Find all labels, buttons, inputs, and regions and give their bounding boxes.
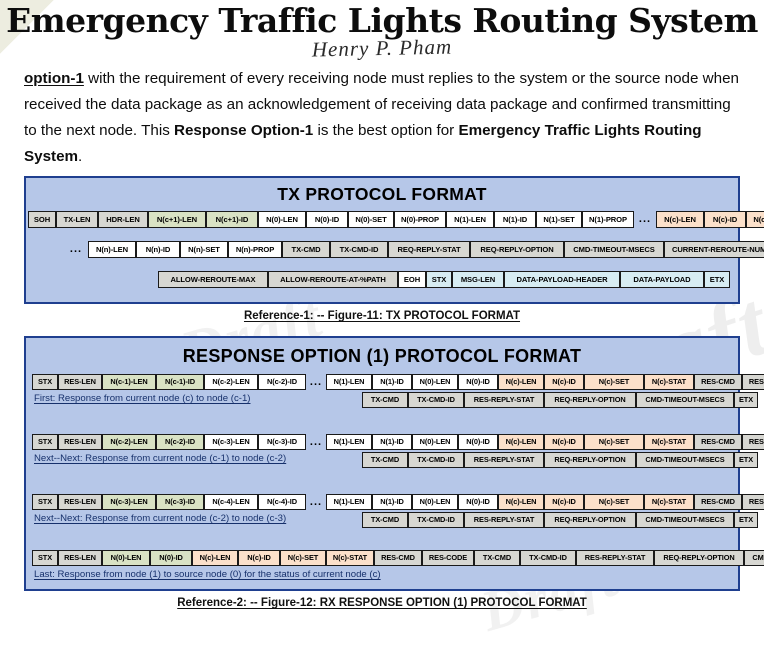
protocol-field-cell: N(0)-ID (458, 494, 498, 510)
protocol-field-cell: TX-CMD (362, 392, 408, 408)
rx-field-row-bottom: TX-CMDTX-CMD-IDRES-REPLY-STATREQ-REPLY-O… (362, 452, 758, 468)
protocol-field-cell: N(c-2)-ID (258, 374, 306, 390)
protocol-field-cell: N(1)-LEN (326, 374, 372, 390)
protocol-field-cell: N(1)-SET (536, 211, 582, 228)
protocol-field-cell: N(c)-ID (544, 494, 584, 510)
protocol-field-cell: RES-LEN (58, 550, 102, 566)
protocol-field-cell: CMD-TIMEOUT-MSECS (564, 241, 664, 258)
protocol-field-cell: DATA-PAYLOAD (620, 271, 704, 288)
protocol-field-cell: REQ-REPLY-OPTION (470, 241, 564, 258)
protocol-field-cell: N(c)-SET (746, 211, 764, 228)
protocol-field-cell: N(c)-LEN (498, 374, 544, 390)
protocol-field-cell: RES-LEN (58, 374, 102, 390)
field-ellipsis: ... (306, 494, 326, 510)
protocol-field-cell: N(1)-ID (372, 374, 412, 390)
protocol-field-cell: CMD-TIMEOUT-MSECS (636, 452, 734, 468)
protocol-field-cell: TX-CMD-ID (520, 550, 576, 566)
protocol-field-cell: N(1)-LEN (326, 434, 372, 450)
tx-caption-text: Reference-1: -- Figure-11: TX PROTOCOL F… (244, 310, 520, 322)
protocol-field-cell: RES-CMD (694, 494, 742, 510)
protocol-field-cell: RES-CODE (742, 434, 764, 450)
protocol-field-cell: N(0)-ID (458, 434, 498, 450)
protocol-field-cell: N(n)-LEN (88, 241, 136, 258)
protocol-field-cell: N(c-2)-LEN (102, 434, 156, 450)
protocol-field-cell: N(1)-ID (372, 494, 412, 510)
tx-field-row-2: ...N(n)-LENN(n)-IDN(n)-SETN(n)-PROPTX-CM… (64, 241, 764, 258)
paragraph-bold-1: Response Option-1 (174, 122, 313, 139)
protocol-field-cell: N(0)-LEN (412, 434, 458, 450)
protocol-field-cell: N(1)-LEN (326, 494, 372, 510)
protocol-field-cell: N(c)-STAT (644, 434, 694, 450)
protocol-field-cell: N(1)-LEN (446, 211, 494, 228)
protocol-field-cell: N(0)-LEN (102, 550, 150, 566)
protocol-field-cell: N(0)-LEN (412, 374, 458, 390)
rx-field-row-bottom: TX-CMDTX-CMD-IDRES-REPLY-STATREQ-REPLY-O… (362, 392, 758, 408)
protocol-field-cell: N(c)-SET (280, 550, 326, 566)
protocol-field-cell: N(c-2)-ID (156, 434, 204, 450)
protocol-field-cell: REQ-REPLY-OPTION (544, 452, 636, 468)
protocol-field-cell: CMD-TIMEOUT-MSECS (636, 392, 734, 408)
protocol-field-cell: N(0)-ID (150, 550, 192, 566)
protocol-field-cell: N(c-4)-ID (258, 494, 306, 510)
rx-block-label: Last: Response from node (1) to source n… (34, 569, 381, 580)
rx-block-label: First: Response from current node (c) to… (34, 393, 250, 404)
paragraph-text-3: . (78, 148, 82, 165)
protocol-field-cell: N(c-4)-LEN (204, 494, 258, 510)
protocol-field-cell: N(c)-STAT (644, 494, 694, 510)
protocol-field-cell: SOH (28, 211, 56, 228)
protocol-field-cell: REQ-REPLY-OPTION (544, 392, 636, 408)
protocol-field-cell: N(c-2)-LEN (204, 374, 258, 390)
protocol-field-cell: EOH (398, 271, 426, 288)
protocol-field-cell: RES-REPLY-STAT (576, 550, 654, 566)
protocol-field-cell: N(0)-LEN (258, 211, 306, 228)
field-ellipsis: ... (634, 211, 656, 228)
protocol-field-cell: TX-CMD-ID (330, 241, 388, 258)
protocol-field-cell: N(1)-ID (372, 434, 412, 450)
protocol-field-cell: N(c-3)-LEN (102, 494, 156, 510)
paragraph-lead-term: option-1 (24, 70, 84, 87)
protocol-field-cell: ALLOW-REROUTE-AT-%PATH (268, 271, 398, 288)
field-ellipsis: ... (306, 374, 326, 390)
rx-figure-caption: Reference-2: -- Figure-12: RX RESPONSE O… (0, 597, 764, 609)
protocol-field-cell: N(c+1)-LEN (148, 211, 206, 228)
protocol-field-cell: N(c+1)-ID (206, 211, 258, 228)
protocol-field-cell: ETX (734, 452, 758, 468)
rx-block-label: Next--Next: Response from current node (… (34, 453, 286, 464)
protocol-field-cell: RES-CODE (422, 550, 474, 566)
rx-field-row-top: STXRES-LENN(c-1)-LENN(c-1)-IDN(c-2)-LENN… (32, 374, 764, 390)
paragraph-text-2: is the best option for (313, 122, 458, 139)
protocol-field-cell: N(c)-ID (544, 434, 584, 450)
protocol-field-cell: TX-CMD-ID (408, 452, 464, 468)
protocol-field-cell: N(n)-PROP (228, 241, 282, 258)
protocol-field-cell: TX-CMD (474, 550, 520, 566)
protocol-field-cell: N(c)-ID (238, 550, 280, 566)
rx-caption-text: Reference-2: -- Figure-12: RX RESPONSE O… (177, 597, 587, 609)
protocol-field-cell: REQ-REPLY-OPTION (654, 550, 744, 566)
protocol-field-cell: RES-LEN (58, 494, 102, 510)
protocol-field-cell: N(1)-ID (494, 211, 536, 228)
protocol-field-cell: N(c-3)-ID (258, 434, 306, 450)
protocol-field-cell: N(1)-PROP (582, 211, 634, 228)
protocol-field-cell: N(0)-PROP (394, 211, 446, 228)
rx-figure-title: RESPONSE OPTION (1) PROTOCOL FORMAT (26, 338, 738, 367)
protocol-field-cell: CMD-TIMEOUT-MSECS (636, 512, 734, 528)
protocol-field-cell: N(0)-SET (348, 211, 394, 228)
protocol-field-cell: STX (32, 374, 58, 390)
protocol-field-cell: RES-REPLY-STAT (464, 512, 544, 528)
protocol-field-cell: REQ-REPLY-STAT (388, 241, 470, 258)
protocol-field-cell: RES-LEN (58, 434, 102, 450)
body-paragraph: option-1 with the requirement of every r… (24, 66, 740, 170)
protocol-field-cell: TX-LEN (56, 211, 98, 228)
rx-field-row-top: STXRES-LENN(c-2)-LENN(c-2)-IDN(c-3)-LENN… (32, 434, 764, 450)
tx-figure-caption: Reference-1: -- Figure-11: TX PROTOCOL F… (0, 310, 764, 322)
rx-protocol-figure: RESPONSE OPTION (1) PROTOCOL FORMAT STXR… (24, 336, 740, 591)
protocol-field-cell: CURRENT-REROUTE-NUMBER (664, 241, 764, 258)
protocol-field-cell: N(c)-SET (584, 434, 644, 450)
protocol-field-cell: TX-CMD (362, 452, 408, 468)
protocol-field-cell: N(c-3)-ID (156, 494, 204, 510)
rx-field-row-top: STXRES-LENN(c-3)-LENN(c-3)-IDN(c-4)-LENN… (32, 494, 764, 510)
protocol-field-cell: TX-CMD (362, 512, 408, 528)
protocol-field-cell: DATA-PAYLOAD-HEADER (504, 271, 620, 288)
protocol-field-cell: STX (32, 494, 58, 510)
protocol-field-cell: N(c-3)-LEN (204, 434, 258, 450)
protocol-field-cell: RES-CODE (742, 374, 764, 390)
protocol-field-cell: N(c)-LEN (656, 211, 704, 228)
protocol-field-cell: STX (426, 271, 452, 288)
protocol-field-cell: N(c)-LEN (192, 550, 238, 566)
protocol-field-cell: RES-REPLY-STAT (464, 452, 544, 468)
protocol-field-cell: RES-CMD (694, 374, 742, 390)
rx-field-row-bottom: TX-CMDTX-CMD-IDRES-REPLY-STATREQ-REPLY-O… (362, 512, 758, 528)
protocol-field-cell: N(n)-ID (136, 241, 180, 258)
protocol-field-cell: N(n)-SET (180, 241, 228, 258)
protocol-field-cell: N(c)-LEN (498, 494, 544, 510)
protocol-field-cell: STX (32, 434, 58, 450)
protocol-field-cell: N(c-1)-ID (156, 374, 204, 390)
rx-block-label: Next--Next: Response from current node (… (34, 513, 286, 524)
protocol-field-cell: RES-REPLY-STAT (464, 392, 544, 408)
protocol-field-cell: N(c)-ID (544, 374, 584, 390)
protocol-field-cell: STX (32, 550, 58, 566)
protocol-field-cell: REQ-REPLY-OPTION (544, 512, 636, 528)
protocol-field-cell: N(c-1)-LEN (102, 374, 156, 390)
protocol-field-cell: N(c)-STAT (326, 550, 374, 566)
protocol-field-cell: RES-CMD (694, 434, 742, 450)
field-ellipsis: ... (64, 241, 88, 258)
protocol-field-cell: RES-CMD (374, 550, 422, 566)
tx-field-row-1: SOHTX-LENHDR-LENN(c+1)-LENN(c+1)-IDN(0)-… (28, 211, 764, 228)
protocol-field-cell: N(c)-ID (704, 211, 746, 228)
protocol-field-cell: TX-CMD (282, 241, 330, 258)
protocol-field-cell: N(c)-LEN (498, 434, 544, 450)
protocol-field-cell: CMD-TIMEOUT-MSECS (744, 550, 764, 566)
protocol-field-cell: ETX (734, 392, 758, 408)
protocol-field-cell: ETX (734, 512, 758, 528)
protocol-field-cell: ETX (704, 271, 730, 288)
tx-figure-title: TX PROTOCOL FORMAT (26, 178, 738, 205)
protocol-field-cell: MSG-LEN (452, 271, 504, 288)
rx-field-row-top: STXRES-LENN(0)-LENN(0)-IDN(c)-LENN(c)-ID… (32, 550, 764, 566)
protocol-field-cell: N(0)-LEN (412, 494, 458, 510)
protocol-field-cell: N(c)-STAT (644, 374, 694, 390)
protocol-field-cell: TX-CMD-ID (408, 392, 464, 408)
protocol-field-cell: ALLOW-REROUTE-MAX (158, 271, 268, 288)
protocol-field-cell: N(0)-ID (306, 211, 348, 228)
field-ellipsis: ... (306, 434, 326, 450)
protocol-field-cell: N(c)-SET (584, 374, 644, 390)
tx-field-row-3: ALLOW-REROUTE-MAXALLOW-REROUTE-AT-%PATHE… (158, 271, 730, 288)
protocol-field-cell: N(c)-SET (584, 494, 644, 510)
protocol-field-cell: N(0)-ID (458, 374, 498, 390)
protocol-field-cell: TX-CMD-ID (408, 512, 464, 528)
protocol-field-cell: HDR-LEN (98, 211, 148, 228)
protocol-field-cell: RES-CODE (742, 494, 764, 510)
